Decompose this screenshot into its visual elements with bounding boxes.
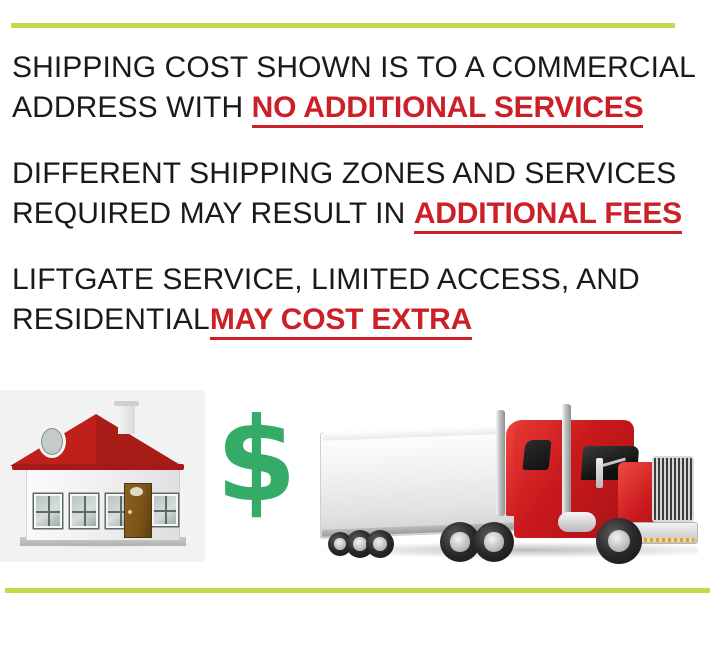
truck-wheel-hub bbox=[484, 532, 503, 551]
notice-line-text: LIFTGATE SERVICE, LIMITED ACCESS, AND bbox=[12, 263, 640, 296]
notice-line: DIFFERENT SHIPPING ZONES AND SERVICES bbox=[12, 154, 712, 194]
house-door-knob bbox=[128, 510, 132, 514]
notice-line-text: DIFFERENT SHIPPING ZONES AND SERVICES bbox=[12, 157, 676, 190]
paragraph-liftgate: LIFTGATE SERVICE, LIMITED ACCESS, AND RE… bbox=[12, 260, 712, 340]
notice-line-text: REQUIRED MAY RESULT IN bbox=[12, 197, 414, 230]
house-attic-window bbox=[38, 425, 66, 458]
bottom-accent-rule bbox=[5, 588, 710, 593]
truck-wheel bbox=[366, 530, 394, 558]
house-image bbox=[0, 390, 205, 562]
notice-line: LIFTGATE SERVICE, LIMITED ACCESS, AND bbox=[12, 260, 712, 300]
truck-exhaust-stack bbox=[562, 404, 571, 516]
truck-image bbox=[300, 388, 710, 568]
truck-exhaust-stack bbox=[496, 410, 505, 516]
paragraph-commercial-address: SHIPPING COST SHOWN IS TO A COMMERCIAL A… bbox=[12, 48, 712, 128]
notice-line: REQUIRED MAY RESULT IN ADDITIONAL FEES bbox=[12, 194, 712, 234]
notice-text-block: SHIPPING COST SHOWN IS TO A COMMERCIAL A… bbox=[12, 48, 712, 340]
notice-line: RESIDENTIALMAY COST EXTRA bbox=[12, 300, 712, 340]
dollar-sign-icon: $ bbox=[216, 406, 292, 516]
highlight-additional-fees: ADDITIONAL FEES bbox=[414, 197, 682, 234]
house-window bbox=[70, 494, 98, 528]
house-window bbox=[34, 494, 62, 528]
truck-wheel bbox=[474, 522, 514, 562]
truck-wheel-hub bbox=[334, 538, 346, 550]
truck-wheel-hub bbox=[608, 530, 630, 552]
top-accent-rule bbox=[11, 23, 675, 28]
house-window bbox=[152, 494, 178, 526]
truck-wheel-hub bbox=[353, 537, 366, 550]
notice-line: SHIPPING COST SHOWN IS TO A COMMERCIAL bbox=[12, 48, 712, 88]
shipping-notice-banner: SHIPPING COST SHOWN IS TO A COMMERCIAL A… bbox=[0, 0, 722, 646]
house-door-wreath bbox=[130, 487, 143, 496]
highlight-may-cost-extra: MAY COST EXTRA bbox=[210, 303, 472, 340]
notice-line-text: SHIPPING COST SHOWN IS TO A COMMERCIAL bbox=[12, 51, 696, 84]
notice-line: ADDRESS WITH NO ADDITIONAL SERVICES bbox=[12, 88, 712, 128]
paragraph-shipping-zones: DIFFERENT SHIPPING ZONES AND SERVICES RE… bbox=[12, 154, 712, 234]
house-roof-shading bbox=[96, 414, 182, 466]
notice-line-text: ADDRESS WITH bbox=[12, 91, 252, 124]
house-chimney-cap bbox=[114, 401, 139, 406]
truck-wheel-hub bbox=[373, 537, 386, 550]
house-roof-eave bbox=[12, 464, 184, 470]
truck-grille bbox=[652, 456, 694, 522]
truck-fuel-tank bbox=[558, 512, 596, 532]
truck-wheel-hub bbox=[450, 532, 469, 551]
truck-wheel bbox=[596, 518, 642, 564]
truck-mirror bbox=[596, 458, 603, 488]
highlight-no-additional-services: NO ADDITIONAL SERVICES bbox=[252, 91, 644, 128]
truck-side-window bbox=[522, 440, 551, 470]
notice-line-text: RESIDENTIAL bbox=[12, 303, 210, 336]
house-chimney bbox=[118, 404, 135, 434]
media-row: $ bbox=[0, 388, 722, 568]
